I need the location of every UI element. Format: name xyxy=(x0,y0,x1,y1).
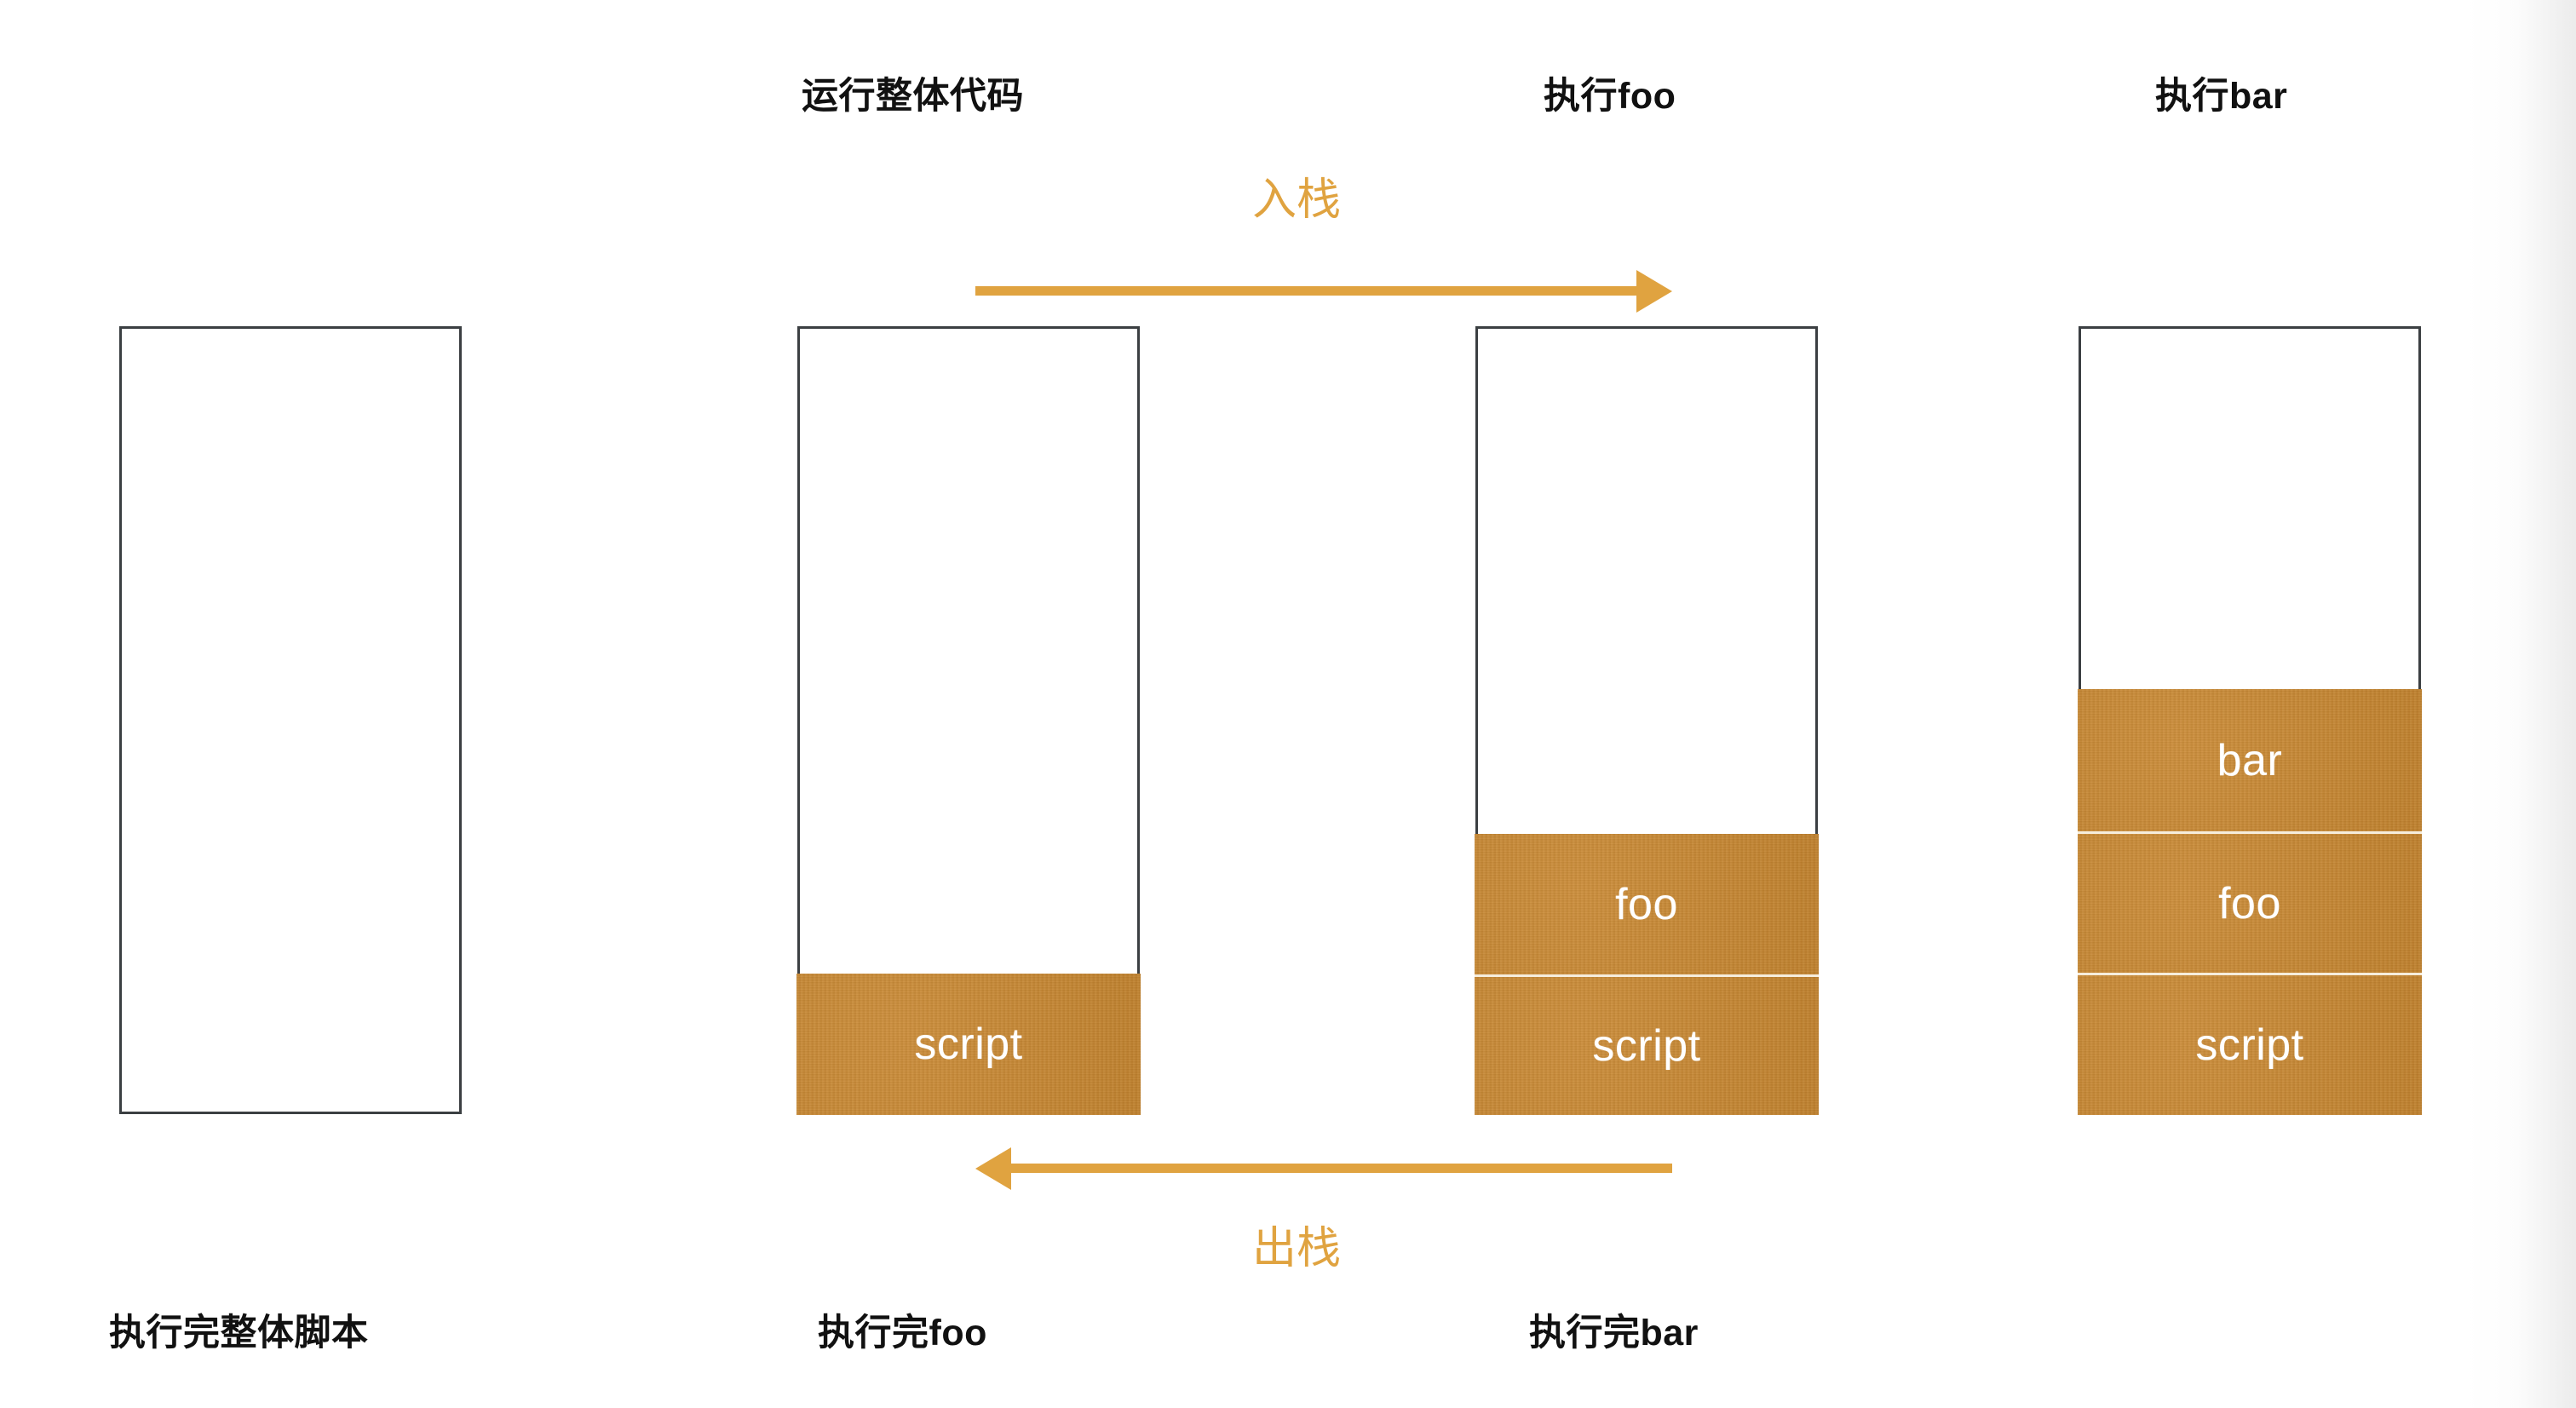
column-footer-finished-foo: 执行完foo xyxy=(818,1303,987,1356)
stack-frame-script: script xyxy=(2078,973,2422,1115)
stack-bar: bar foo script xyxy=(2079,326,2421,1114)
column-title-run-whole-code: 运行整体代码 xyxy=(802,66,1024,119)
column-footer-finished-whole-script: 执行完整体脚本 xyxy=(109,1303,369,1356)
push-arrow-head-icon xyxy=(1636,270,1672,313)
pop-arrow-line xyxy=(1008,1164,1672,1173)
stack-frame-bar: bar xyxy=(2078,689,2422,831)
stack-frame-label: script xyxy=(1592,1024,1700,1068)
push-arrow-line xyxy=(975,286,1640,296)
column-title-execute-foo: 执行foo xyxy=(1544,66,1676,119)
stack-script: script xyxy=(797,326,1140,1114)
diagram-canvas: 运行整体代码 执行foo 执行bar 入栈 script foo script … xyxy=(0,0,2576,1408)
stack-empty xyxy=(119,326,462,1114)
pop-arrow-label: 出栈 xyxy=(1252,1212,1341,1276)
page-edge-shadow xyxy=(2465,0,2576,1408)
push-arrow-label: 入栈 xyxy=(1252,164,1341,227)
column-footer-finished-bar: 执行完bar xyxy=(1529,1303,1699,1356)
stack-frame-label: script xyxy=(914,1022,1022,1066)
stack-foo: foo script xyxy=(1475,326,1818,1114)
pop-arrow-head-icon xyxy=(975,1147,1011,1190)
stack-frame-foo: foo xyxy=(1475,834,1819,974)
stack-frame-script: script xyxy=(796,974,1141,1115)
stack-frame-foo: foo xyxy=(2078,831,2422,973)
column-title-execute-bar: 执行bar xyxy=(2155,66,2287,119)
stack-frame-script: script xyxy=(1475,974,1819,1115)
stack-frame-label: foo xyxy=(2218,882,2281,926)
stack-frame-label: bar xyxy=(2217,738,2283,783)
stack-frame-label: script xyxy=(2195,1023,2303,1067)
stack-frame-label: foo xyxy=(1615,882,1678,927)
